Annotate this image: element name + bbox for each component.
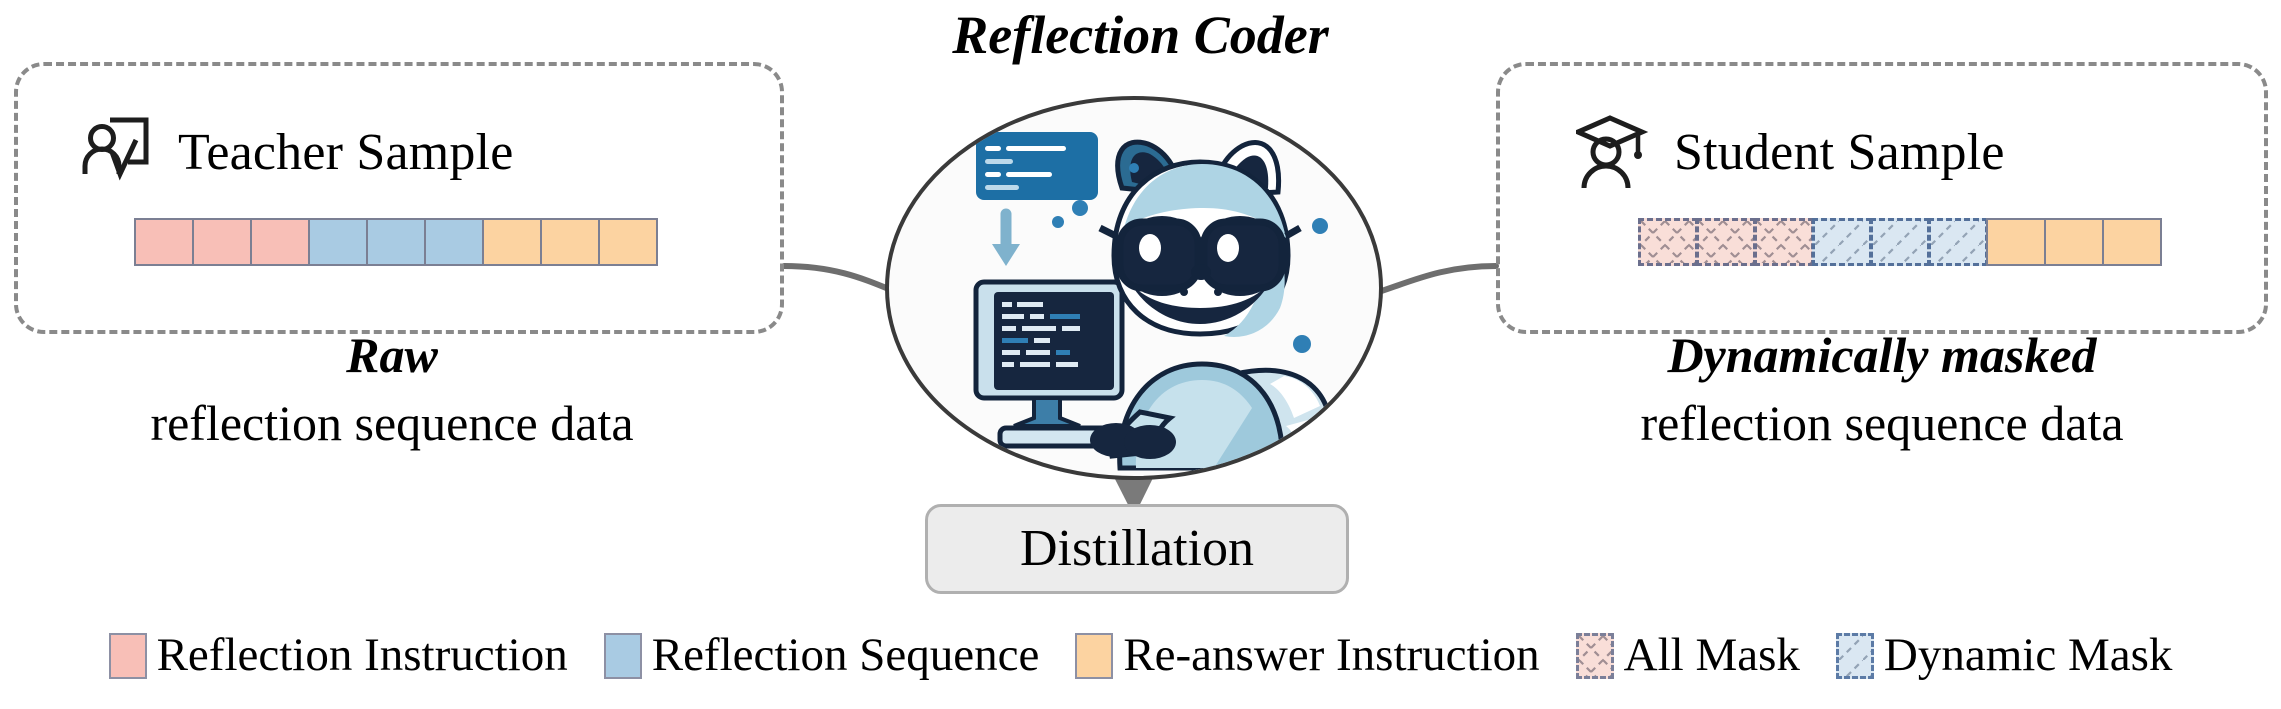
token-cell-reflection-instruction bbox=[250, 218, 310, 266]
graduate-student-icon bbox=[1576, 112, 1652, 193]
legend-item: Reflection Sequence bbox=[604, 632, 1040, 679]
legend-label: Dynamic Mask bbox=[1884, 632, 2172, 679]
distillation-box[interactable]: Distillation bbox=[925, 504, 1349, 594]
legend-item: Dynamic Mask bbox=[1836, 632, 2172, 679]
legend-swatch-pink bbox=[109, 633, 147, 679]
token-cell-reflection-sequence bbox=[1928, 218, 1988, 266]
token-cell-reflection-instruction bbox=[134, 218, 194, 266]
legend-item: Re-answer Instruction bbox=[1075, 632, 1539, 679]
legend-swatch-m-dyn bbox=[1836, 633, 1874, 679]
teacher-caption-strong: Raw bbox=[0, 330, 784, 380]
distillation-label: Distillation bbox=[1020, 523, 1254, 575]
legend-label: Reflection Instruction bbox=[157, 632, 568, 679]
token-cell-reflection-sequence bbox=[424, 218, 484, 266]
token-cell-re-answer-instruction bbox=[2102, 218, 2162, 266]
student-sample-header: Student Sample bbox=[1576, 112, 2005, 193]
token-cell-re-answer-instruction bbox=[598, 218, 658, 266]
token-cell-reflection-sequence bbox=[1870, 218, 1930, 266]
token-cell-reflection-instruction bbox=[1638, 218, 1698, 266]
legend-swatch-orange bbox=[1075, 633, 1113, 679]
teacher-sample-label: Teacher Sample bbox=[178, 127, 514, 179]
page-title: Reflection Coder bbox=[0, 8, 2281, 62]
token-cell-reflection-sequence bbox=[308, 218, 368, 266]
student-caption-strong: Dynamically masked bbox=[1496, 330, 2268, 380]
legend-item: Reflection Instruction bbox=[109, 632, 568, 679]
teacher-sample-header: Teacher Sample bbox=[80, 112, 514, 193]
legend-swatch-m-all bbox=[1576, 633, 1614, 679]
legend: Reflection InstructionReflection Sequenc… bbox=[0, 632, 2281, 679]
legend-label: Re-answer Instruction bbox=[1123, 632, 1539, 679]
token-cell-reflection-instruction bbox=[1754, 218, 1814, 266]
raccoon-coder-mascot bbox=[884, 96, 1384, 480]
student-sample-label: Student Sample bbox=[1674, 127, 2005, 179]
token-cell-re-answer-instruction bbox=[482, 218, 542, 266]
token-cell-reflection-sequence bbox=[366, 218, 426, 266]
legend-label: Reflection Sequence bbox=[652, 632, 1040, 679]
student-caption-normal: reflection sequence data bbox=[1496, 398, 2268, 448]
token-cell-reflection-instruction bbox=[1696, 218, 1756, 266]
token-cell-re-answer-instruction bbox=[2044, 218, 2104, 266]
teacher-presentation-icon bbox=[80, 112, 156, 193]
teacher-sample-panel bbox=[14, 62, 784, 334]
legend-item: All Mask bbox=[1576, 632, 1800, 679]
student-token-strip bbox=[1638, 218, 2162, 266]
teacher-token-strip bbox=[134, 218, 658, 266]
legend-swatch-blue bbox=[604, 633, 642, 679]
teacher-caption-normal: reflection sequence data bbox=[0, 398, 784, 448]
token-cell-re-answer-instruction bbox=[540, 218, 600, 266]
token-cell-reflection-instruction bbox=[192, 218, 252, 266]
token-cell-re-answer-instruction bbox=[1986, 218, 2046, 266]
token-cell-reflection-sequence bbox=[1812, 218, 1872, 266]
legend-label: All Mask bbox=[1624, 632, 1800, 679]
student-sample-panel bbox=[1496, 62, 2268, 334]
